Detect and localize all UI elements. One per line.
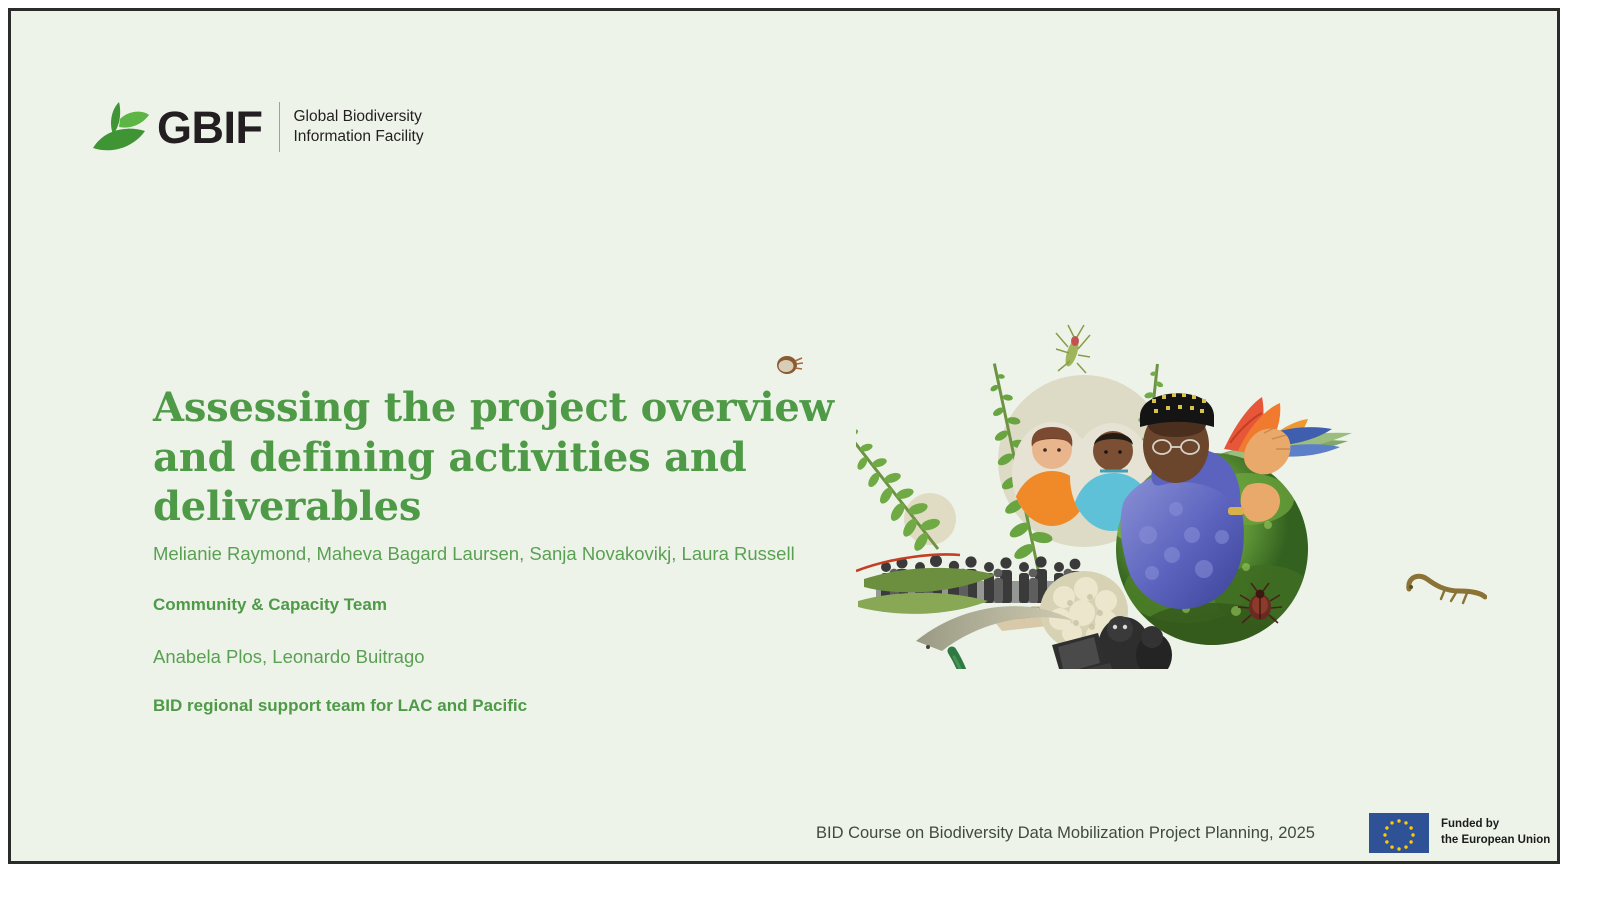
grasshopper bbox=[1056, 325, 1090, 373]
gbif-full-name: Global Biodiversity Information Facility bbox=[294, 107, 424, 148]
snail-icon bbox=[773, 351, 803, 377]
eu-funding-badge: Funded by the European Union bbox=[1369, 813, 1550, 853]
eu-flag-icon bbox=[1369, 813, 1429, 853]
gbif-wordmark: GBIF bbox=[157, 105, 263, 150]
page-title: Assessing the project overview and defin… bbox=[153, 383, 913, 532]
gbif-leaf-icon bbox=[89, 98, 151, 156]
eu-funding-label: Funded by the European Union bbox=[1441, 817, 1550, 848]
lizard-icon bbox=[1401, 567, 1487, 609]
team-primary: Community & Capacity Team bbox=[153, 595, 913, 615]
gbif-logo: GBIF Global Biodiversity Information Fac… bbox=[89, 97, 424, 157]
presentation-slide: GBIF Global Biodiversity Information Fac… bbox=[8, 8, 1560, 864]
logo-divider bbox=[279, 102, 280, 152]
authors-secondary: Anabela Plos, Leonardo Buitrago bbox=[153, 646, 913, 668]
footer-course-label: BID Course on Biodiversity Data Mobiliza… bbox=[816, 824, 1315, 843]
gbif-full-name-line1: Global Biodiversity bbox=[294, 108, 422, 125]
gbif-full-name-line2: Information Facility bbox=[294, 128, 424, 145]
authors-primary: Melianie Raymond, Maheva Bagard Laursen,… bbox=[153, 542, 913, 567]
team-secondary: BID regional support team for LAC and Pa… bbox=[153, 696, 913, 716]
biodiversity-collage bbox=[856, 249, 1416, 669]
eu-funding-line1: Funded by bbox=[1441, 818, 1499, 830]
eu-funding-line2: the European Union bbox=[1441, 834, 1550, 846]
title-block: Assessing the project overview and defin… bbox=[153, 383, 913, 716]
